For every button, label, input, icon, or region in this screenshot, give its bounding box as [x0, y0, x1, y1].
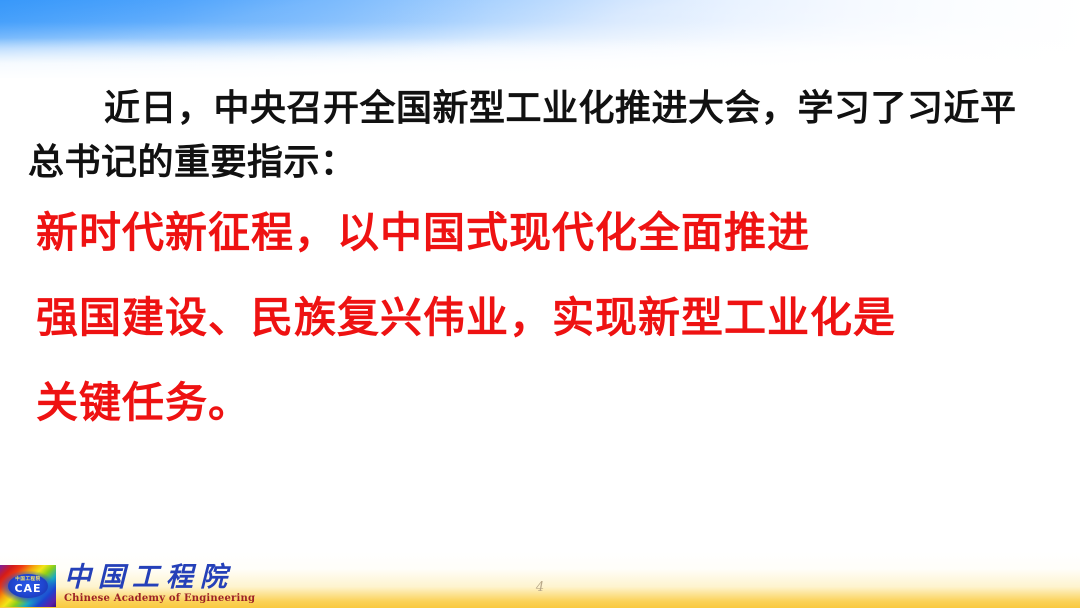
- footer-band: 中国工程院 CAE 中国工程院 Chinese Academy of Engin…: [0, 552, 1080, 608]
- page-number: 4: [0, 580, 1080, 596]
- quote-line-3: 关键任务。: [36, 360, 1052, 445]
- intro-paragraph: 近日，中央召开全国新型工业化推进大会，学习了习近平总书记的重要指示：: [0, 82, 1080, 190]
- quote-line-1: 新时代新征程，以中国式现代化全面推进: [36, 190, 1052, 275]
- top-blue-gradient-band: [0, 0, 1080, 78]
- quote-block: 新时代新征程，以中国式现代化全面推进 强国建设、民族复兴伟业，实现新型工业化是 …: [0, 190, 1080, 445]
- presentation-slide: 近日，中央召开全国新型工业化推进大会，学习了习近平总书记的重要指示： 新时代新征…: [0, 0, 1080, 608]
- quote-line-2: 强国建设、民族复兴伟业，实现新型工业化是: [36, 275, 1052, 360]
- slide-content: 近日，中央召开全国新型工业化推进大会，学习了习近平总书记的重要指示： 新时代新征…: [0, 82, 1080, 445]
